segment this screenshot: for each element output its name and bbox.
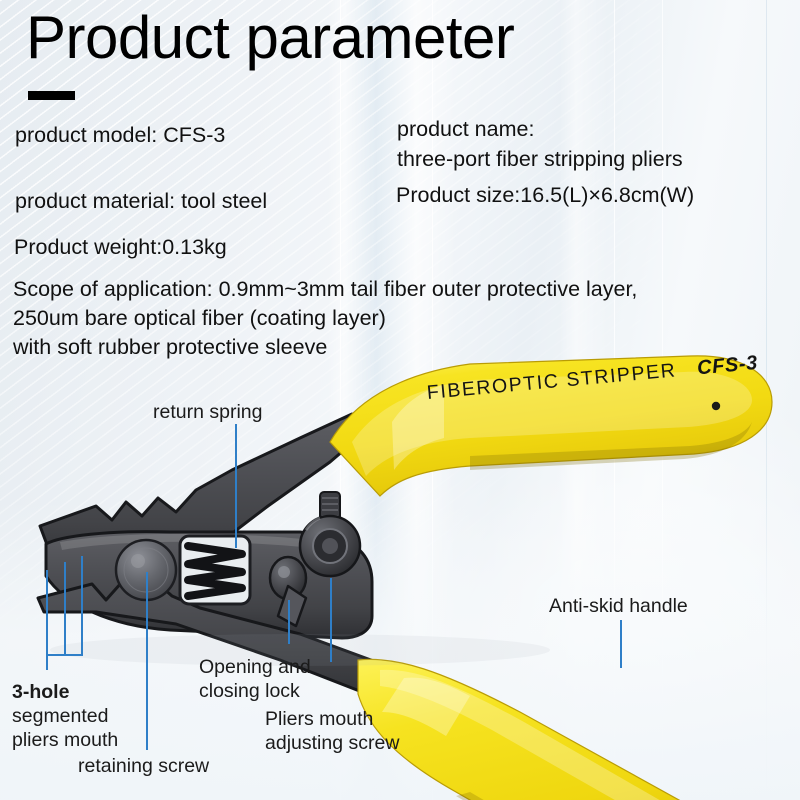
callout-retaining-screw: retaining screw (78, 754, 209, 778)
leader-return-spring (235, 424, 237, 548)
callout-3hole-emphasis: 3-hole (12, 681, 69, 703)
leader-3hole-c (81, 556, 83, 656)
callout-return-spring: return spring (153, 400, 262, 424)
closing-lock-highlight (278, 566, 290, 578)
upper-handle-hole (712, 402, 720, 410)
callout-adjusting-screw: Pliers mouth adjusting screw (265, 707, 399, 755)
tool-svg (0, 330, 800, 800)
product-parameter-infographic: Product parameter product model: CFS-3 p… (0, 0, 800, 800)
adjusting-screw-socket (322, 538, 338, 554)
callout-anti-skid-handle: Anti-skid handle (549, 594, 688, 618)
spec-product-material: product material: tool steel (15, 186, 267, 217)
scope-line-1: Scope of application: 0.9mm~3mm tail fib… (13, 275, 637, 304)
spec-product-name-label: product name: (397, 114, 534, 145)
title-underline-dash (28, 91, 75, 100)
fiber-stripper-illustration (0, 330, 800, 800)
callout-adjust-line-2: adjusting screw (265, 731, 399, 755)
callout-3hole-line-2: segmented (12, 704, 118, 728)
leader-closing-lock (288, 600, 290, 644)
callout-3hole-line-3: pliers mouth (12, 728, 118, 752)
spec-product-model: product model: CFS-3 (15, 120, 225, 151)
leader-adjusting-screw (330, 578, 332, 662)
leader-3hole-b (64, 562, 66, 656)
leader-retaining-screw (146, 572, 148, 750)
callout-3hole-pliers-mouth: 3-hole segmented pliers mouth (12, 680, 118, 753)
page-title: Product parameter (26, 8, 514, 68)
spec-product-size: Product size:16.5(L)×6.8cm(W) (396, 180, 694, 211)
leader-3hole-bracket (46, 654, 82, 656)
callout-lock-line-1: Opening and (199, 655, 311, 679)
callout-lock-line-2: closing lock (199, 679, 311, 703)
spec-product-weight: Product weight:0.13kg (14, 232, 227, 263)
handle-print-model: CFS-3 (696, 352, 759, 379)
spec-product-name-value: three-port fiber stripping pliers (397, 144, 683, 175)
callout-3hole-line-1: 3-hole (12, 680, 118, 704)
retaining-screw-highlight (131, 554, 145, 568)
leader-anti-skid-handle (620, 620, 622, 668)
callout-adjust-line-1: Pliers mouth (265, 707, 399, 731)
callout-closing-lock: Opening and closing lock (199, 655, 311, 703)
